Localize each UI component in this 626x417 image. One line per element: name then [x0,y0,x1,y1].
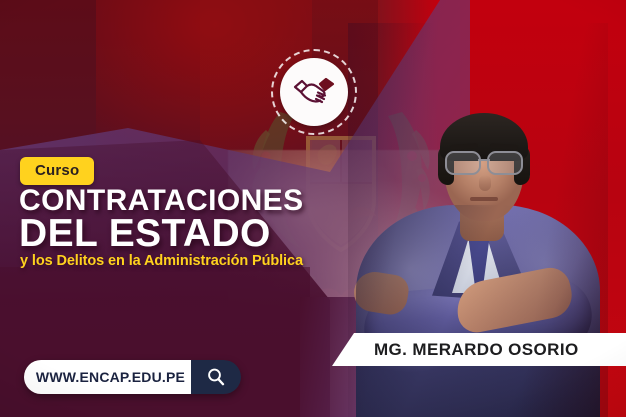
search-button[interactable] [191,360,241,394]
website-url-bar[interactable]: WWW.ENCAP.EDU.PE [24,360,241,394]
glasses-bridge [478,159,490,161]
speaker-name-text: MG. MERARDO OSORIO [374,340,579,360]
page-subtitle: y los Delitos en la Administración Públi… [20,253,303,269]
eyeglasses [444,151,524,171]
search-icon [206,367,226,387]
page-title-line2: DEL ESTADO [19,214,271,253]
mouth-shape [470,197,498,201]
lens-left [445,151,481,175]
lens-right [487,151,523,175]
nose-shape [479,175,491,191]
speaker-name-banner: MG. MERARDO OSORIO [332,333,626,366]
curso-badge: Curso [20,157,94,185]
handshake-logo-badge [271,49,357,135]
handshake-icon [292,75,336,109]
suit-shading [356,205,600,417]
badge-circle [280,58,348,126]
website-url-text: WWW.ENCAP.EDU.PE [24,360,191,394]
course-promo-banner: Curso CONTRATACIONES DEL ESTADO y los De… [0,0,626,417]
